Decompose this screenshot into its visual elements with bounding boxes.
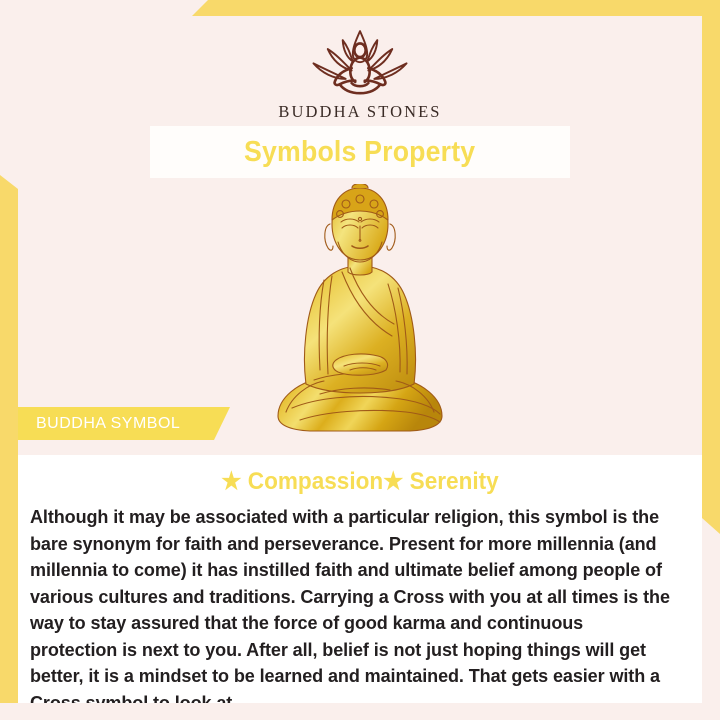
infographic-card: BUDDHA STONES Symbols Property	[0, 0, 720, 720]
brand-name: BUDDHA STONES	[0, 102, 720, 122]
header-section: BUDDHA STONES Symbols Property	[0, 0, 720, 455]
content-panel: ★ Compassion★ Serenity Although it may b…	[18, 455, 702, 703]
brand-block: BUDDHA STONES	[0, 24, 720, 122]
content-headline: ★ Compassion★ Serenity	[39, 467, 682, 496]
badge-ribbon: BUDDHA SYMBOL	[18, 407, 230, 440]
footer-strip	[0, 703, 720, 720]
lotus-meditation-logo-icon	[300, 24, 420, 98]
golden-seated-buddha-statue-icon	[262, 184, 458, 442]
content-paragraph: Although it may be associated with a par…	[30, 504, 670, 716]
hero-image-wrap	[0, 180, 720, 442]
badge-label: BUDDHA SYMBOL	[36, 415, 180, 433]
title-banner: Symbols Property	[150, 126, 570, 178]
page-title: Symbols Property	[244, 136, 475, 169]
